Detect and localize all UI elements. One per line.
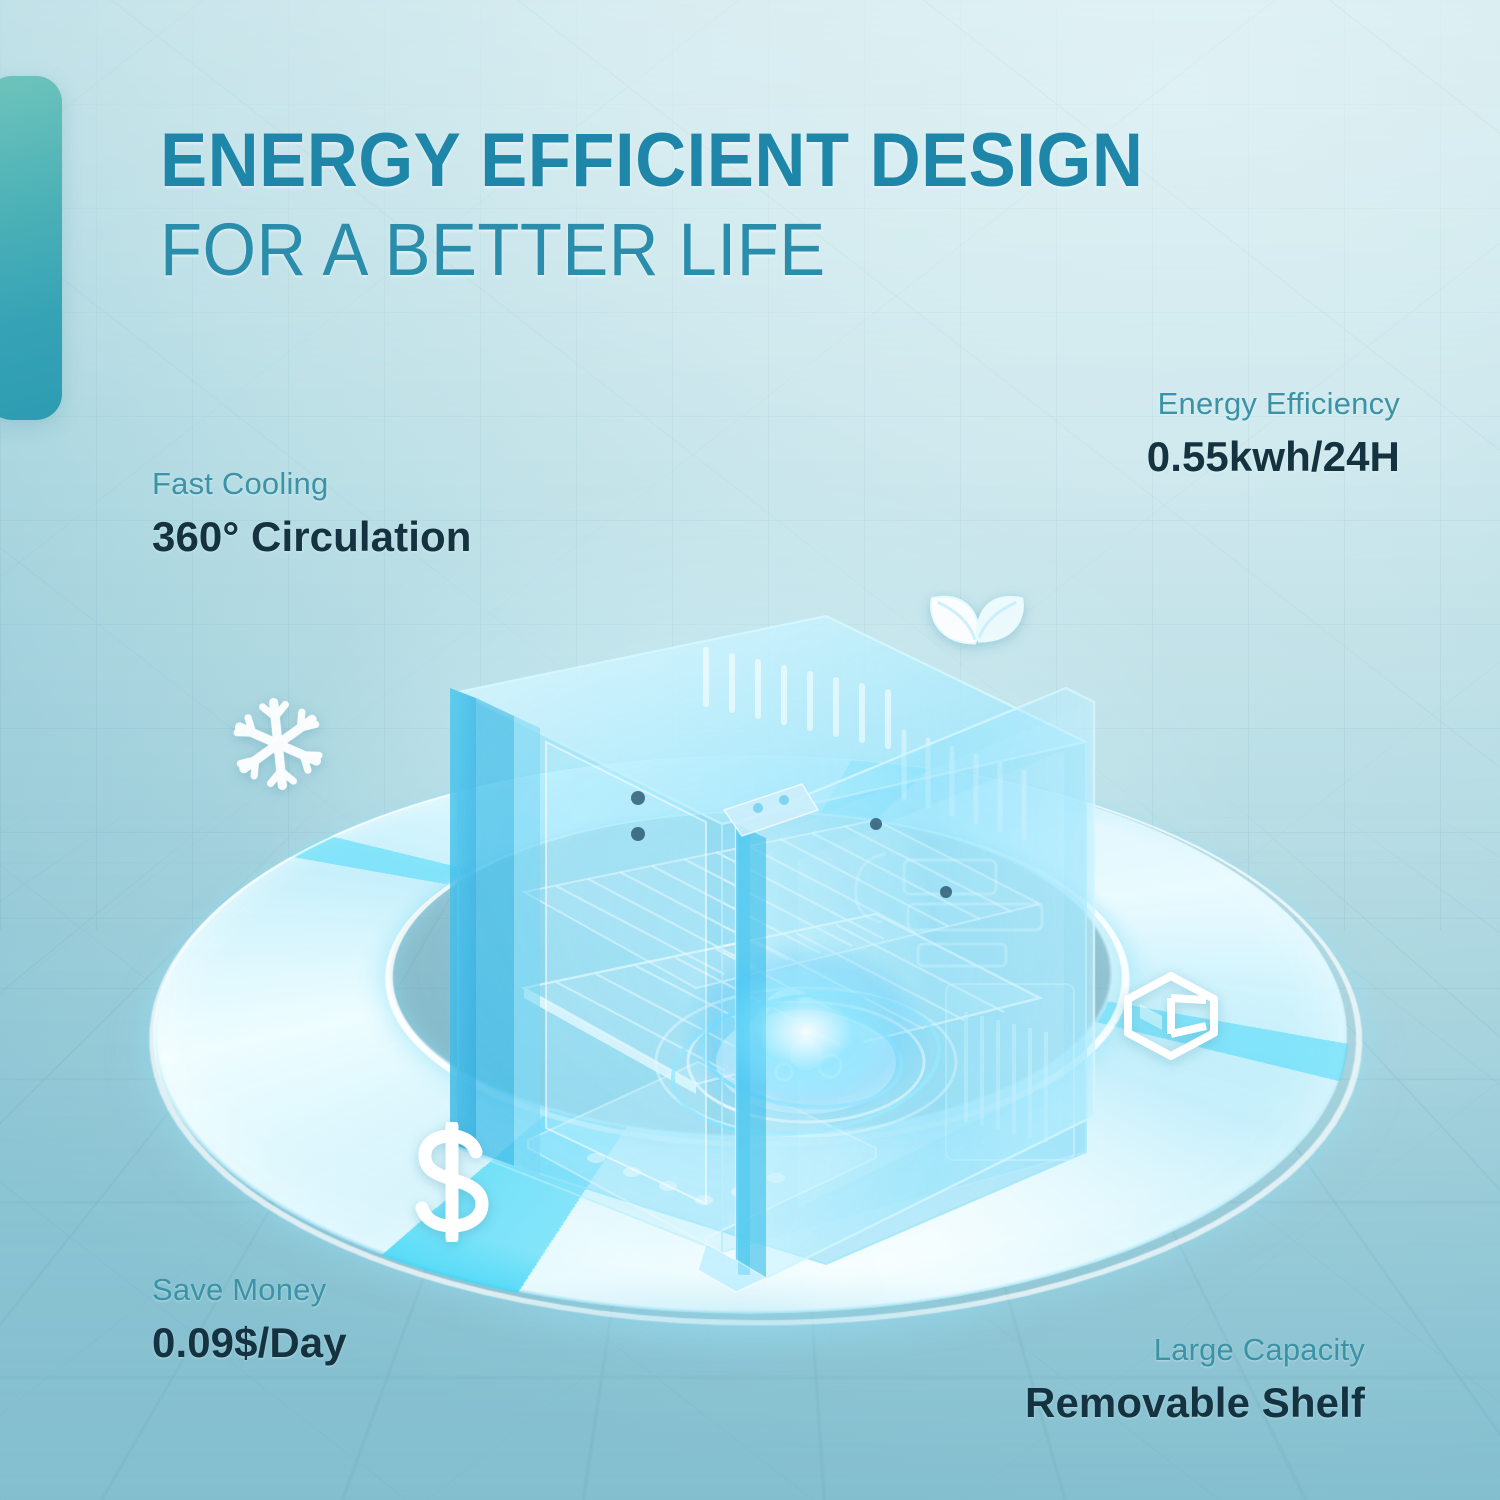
accent-bar [0, 76, 62, 420]
feature-fast-cooling: Fast Cooling 360° Circulation [152, 466, 472, 561]
feature-caption: Large Capacity [1025, 1332, 1365, 1368]
feature-value: Removable Shelf [1025, 1379, 1365, 1427]
snowflake-icon [221, 687, 335, 801]
feature-caption: Energy Efficiency [1147, 386, 1400, 422]
dollar-icon [404, 1122, 500, 1242]
cube-icon [1118, 968, 1224, 1064]
page-title: ENERGY EFFICIENT DESIGN FOR A BETTER LIF… [160, 118, 1217, 292]
poster-canvas: ENERGY EFFICIENT DESIGN FOR A BETTER LIF… [0, 0, 1500, 1500]
title-line-1: ENERGY EFFICIENT DESIGN [160, 118, 1143, 204]
feature-caption: Fast Cooling [152, 466, 472, 502]
title-line-2: FOR A BETTER LIFE [160, 208, 1143, 292]
feature-value: 0.09$/Day [152, 1319, 347, 1367]
product-illustration [406, 592, 1106, 1312]
feature-value: 360° Circulation [152, 513, 472, 561]
feature-energy-efficiency: Energy Efficiency 0.55kwh/24H [1147, 386, 1400, 481]
feature-save-money: Save Money 0.09$/Day [152, 1272, 347, 1367]
refrigerator-svg [406, 592, 1106, 1312]
leaf-icon [918, 578, 1036, 658]
feature-value: 0.55kwh/24H [1147, 433, 1400, 481]
feature-caption: Save Money [152, 1272, 347, 1308]
feature-large-capacity: Large Capacity Removable Shelf [1025, 1332, 1365, 1427]
